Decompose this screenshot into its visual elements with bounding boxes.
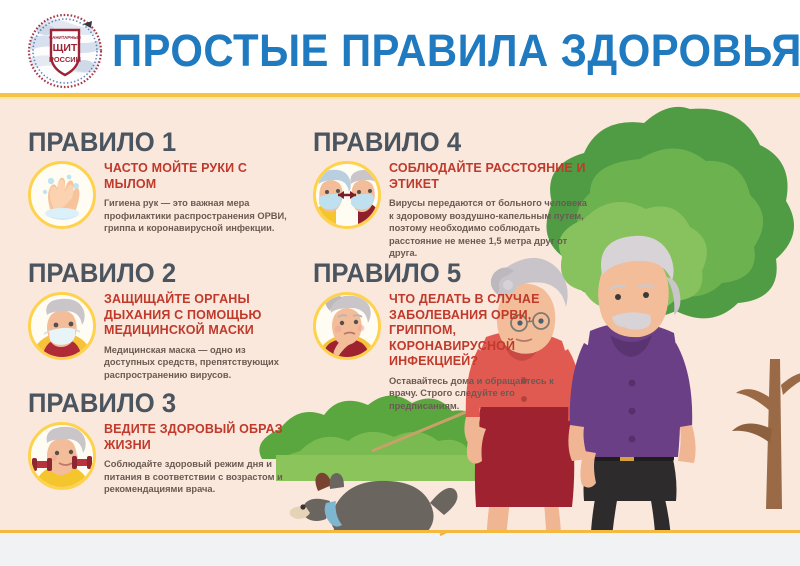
rule-title-5: ЧТО ДЕЛАТЬ В СЛУЧАЕ ЗАБОЛЕВАНИЯ ОРВИ, ГР… [389,292,573,370]
footer-ribbon [0,533,800,566]
rule-desc-1: Гигиена рук — это важная мера профилакти… [104,197,298,235]
rule-card-3: ПРАВИЛО 3 [28,388,298,496]
rule-number-4: ПРАВИЛО 4 [313,127,579,157]
logo-line2: ЩИТ [53,42,78,54]
rule-card-5: ПРАВИЛО 5 [313,258,573,412]
rule-number-3: ПРАВИЛО 3 [28,388,285,418]
rule-desc-2: Медицинская маска — одно из доступных ср… [104,344,298,382]
person-wearing-mask-icon [28,292,96,360]
rule-card-2: ПРАВИЛО 2 ЗАЩИЩАЙТЕ ОРГАНЫ ДЫХАНИЯ С ПОМ… [28,258,298,381]
rule-title-1: ЧАСТО МОЙТЕ РУКИ С МЫЛОМ [104,161,298,192]
rule-title-2: ЗАЩИЩАЙТЕ ОРГАНЫ ДЫХАНИЯ С ПОМОЩЬЮ МЕДИЦ… [104,292,298,339]
rule-card-1: ПРАВИЛО 1 ЧАСТО МОЙТЕ РУКИ С МЫЛОМ Гигие… [28,127,298,235]
health-rules-poster: САНИТАРНЫЙ ЩИТ РОССИИ ПРОСТЫЕ ПРАВИЛА ЗД… [0,0,800,566]
rule-title-4: СОБЛЮДАЙТЕ РАССТОЯНИЕ И ЭТИКЕТ [389,161,593,192]
rule-desc-4: Вирусы передаются от больного человека к… [389,197,593,260]
poster-header: САНИТАРНЫЙ ЩИТ РОССИИ ПРОСТЫЕ ПРАВИЛА ЗД… [0,0,800,96]
rule-number-1: ПРАВИЛО 1 [28,127,285,157]
rule-title-3: ВЕДИТЕ ЗДОРОВЫЙ ОБРАЗ ЖИЗНИ [104,422,298,453]
sanitary-shield-of-russia-emblem: САНИТАРНЫЙ ЩИТ РОССИИ [22,10,108,92]
poster-footer: Ваш Роспотребнадзор [0,533,800,566]
rule-card-4: ПРАВИЛО 4 [313,127,593,260]
washing-hands-icon [28,161,96,229]
person-with-dumbbells-icon [28,422,96,490]
dog [290,473,458,533]
logo-line1: САНИТАРНЫЙ [49,35,81,40]
person-feeling-unwell-icon [313,292,381,360]
social-distance-icon [313,161,381,229]
rule-desc-3: Соблюдайте здоровый режим дня и питания … [104,458,298,496]
page-title: ПРОСТЫЕ ПРАВИЛА ЗДОРОВЬЯ [112,22,741,80]
rule-number-5: ПРАВИЛО 5 [313,258,560,288]
logo-line3: РОССИИ [49,55,81,64]
rule-number-2: ПРАВИЛО 2 [28,258,285,288]
rule-desc-5: Оставайтесь дома и обращайтесь к врачу. … [389,375,573,413]
bare-tree [732,359,800,509]
